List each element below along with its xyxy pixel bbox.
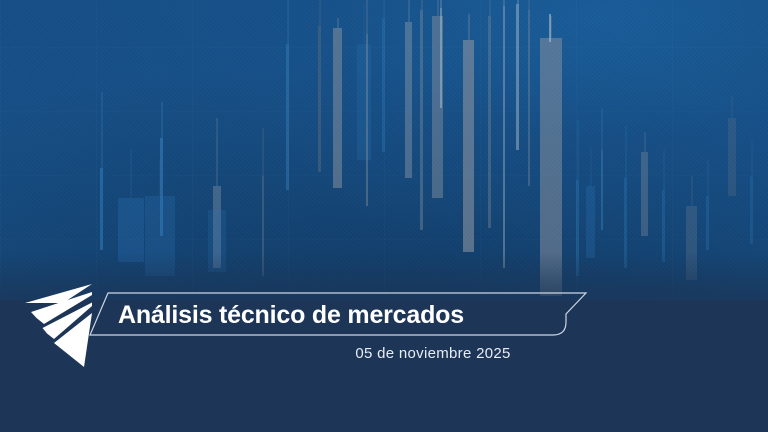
page-title: Análisis técnico de mercados xyxy=(118,299,568,331)
slide-date-text: 05 de noviembre 2025 xyxy=(355,345,510,362)
title-slide: Análisis técnico de mercados 05 de novie… xyxy=(0,0,768,432)
slide-date: 05 de noviembre 2025 xyxy=(0,345,768,362)
